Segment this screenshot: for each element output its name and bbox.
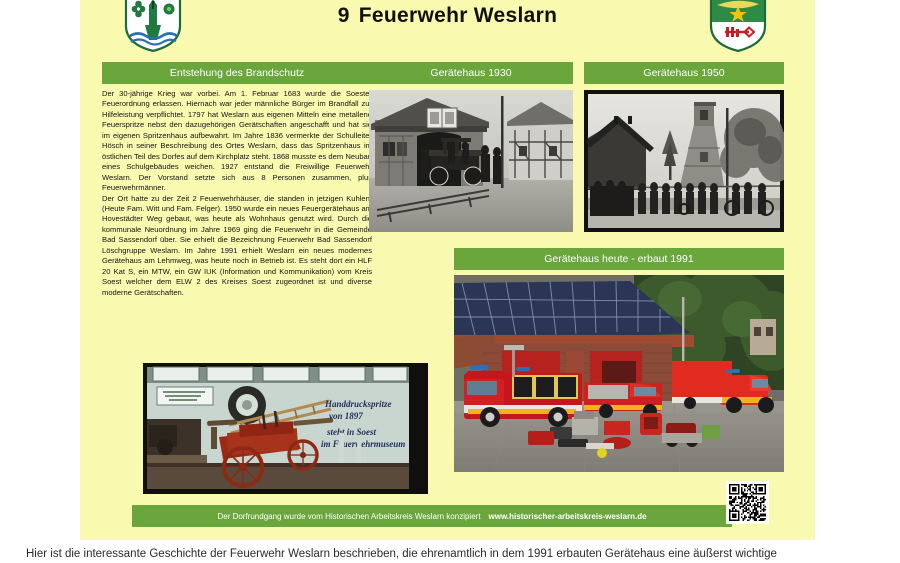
footer-text: Der Dorfrundgang wurde vom Historischen … bbox=[217, 512, 480, 521]
historic-photo-geraetehaus-1930 bbox=[369, 90, 573, 232]
overlay-line-4: im Feuerwehrmuseum bbox=[321, 439, 405, 449]
page-title-text: Feuerwehr Weslarn bbox=[359, 4, 557, 27]
caption-geraetehaus-1950: Gerätehaus 1950 bbox=[584, 62, 784, 84]
article-paragraph-1: Der 30-jährige Krieg war vorbei. Am 1. F… bbox=[102, 89, 372, 194]
caption-geraetehaus-heute: Gerätehaus heute - erbaut 1991 bbox=[454, 248, 784, 270]
historic-photo-geraetehaus-1950 bbox=[584, 90, 784, 232]
photo-handdruckspritze: Handdruckspritze von 1897 steht in Soest… bbox=[143, 363, 428, 494]
page-title-number: 9 bbox=[338, 4, 350, 27]
footer-url[interactable]: www.historischer-arbeitskreis-weslarn.de bbox=[489, 512, 647, 521]
page-body-caption: Hier ist die interessante Geschichte der… bbox=[26, 548, 886, 560]
article-body: Der 30-jährige Krieg war vorbei. Am 1. F… bbox=[102, 89, 372, 298]
info-poster: 9Feuerwehr Weslarn Entstehung des Brands… bbox=[80, 0, 815, 540]
overlay-line-2: von 1897 bbox=[329, 411, 363, 421]
article-paragraph-2: Der Ort hatte zu der Zeit 2 Feuerwehrhäu… bbox=[102, 194, 372, 299]
page-title: 9Feuerwehr Weslarn bbox=[80, 4, 815, 28]
footer-bar: Der Dorfrundgang wurde vom Historischen … bbox=[132, 505, 732, 527]
screenshot-root: 9Feuerwehr Weslarn Entstehung des Brands… bbox=[0, 0, 900, 563]
caption-geraetehaus-1930: Gerätehaus 1930 bbox=[369, 62, 573, 84]
overlay-line-3: steht in Soest bbox=[326, 427, 377, 437]
overlay-line-1: Handdruckspritze bbox=[324, 399, 392, 409]
section-heading-entstehung: Entstehung des Brandschutz bbox=[102, 62, 372, 84]
qr-code[interactable] bbox=[726, 481, 769, 524]
photo-geraetehaus-heute bbox=[454, 275, 784, 472]
